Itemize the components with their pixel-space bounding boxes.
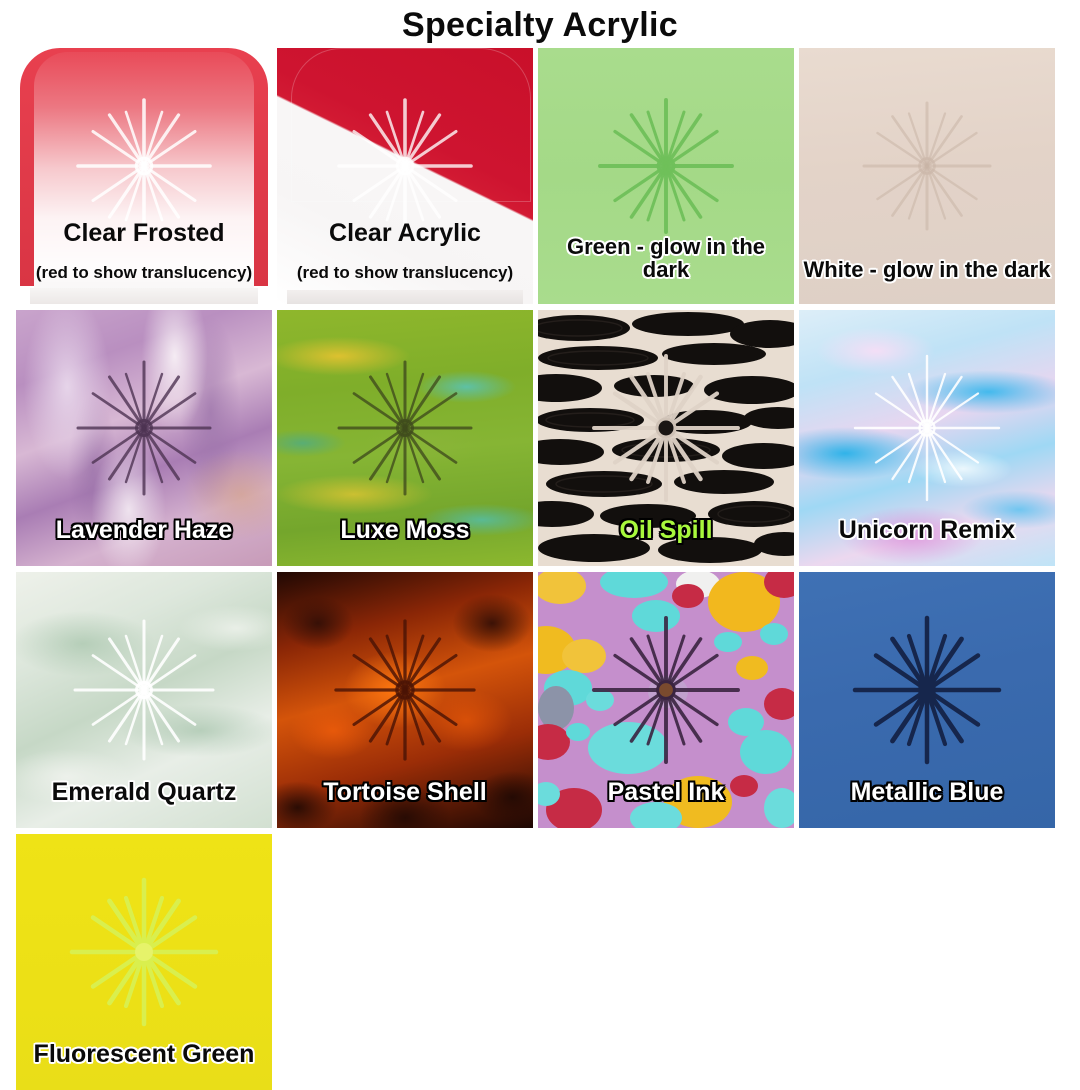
page-title: Specialty Acrylic bbox=[0, 0, 1080, 48]
swatch-name: Clear Frosted bbox=[20, 220, 268, 246]
swatch-name: Fluorescent Green bbox=[20, 1041, 268, 1067]
swatch-tile-clear-frosted[interactable]: Clear Frosted (red to show translucency) bbox=[16, 48, 272, 304]
swatch-tile-unicorn-remix[interactable]: Unicorn Remix bbox=[799, 310, 1055, 566]
swatch-tile-white-glow-in-the-dark[interactable]: White - glow in the dark bbox=[799, 48, 1055, 304]
swatch-name: White - glow in the dark bbox=[803, 259, 1051, 282]
starburst-icon bbox=[69, 353, 219, 503]
swatch-label: Clear Frosted (red to show translucency) bbox=[16, 203, 272, 298]
swatch-label: White - glow in the dark bbox=[799, 242, 1055, 298]
swatch-tile-pastel-ink[interactable]: Pastel Ink bbox=[538, 572, 794, 828]
swatch-name: Luxe Moss bbox=[281, 517, 529, 543]
swatch-surface: Clear Acrylic (red to show translucency) bbox=[277, 48, 533, 304]
swatch-surface: White - glow in the dark bbox=[799, 48, 1055, 304]
swatch-name: Oil Spill bbox=[542, 517, 790, 543]
starburst-icon bbox=[330, 353, 480, 503]
swatch-note: (red to show translucency) bbox=[20, 264, 268, 282]
swatch-surface: Emerald Quartz bbox=[16, 572, 272, 828]
swatch-label: Lavender Haze bbox=[16, 501, 272, 560]
swatch-surface: Fluorescent Green bbox=[16, 834, 272, 1090]
swatch-tile-clear-acrylic[interactable]: Clear Acrylic (red to show translucency) bbox=[277, 48, 533, 304]
swatch-label: Clear Acrylic (red to show translucency) bbox=[277, 203, 533, 298]
starburst-icon bbox=[852, 91, 1002, 241]
swatch-name: Tortoise Shell bbox=[281, 779, 529, 805]
swatch-surface: Tortoise Shell bbox=[277, 572, 533, 828]
swatch-tile-fluorescent-green[interactable]: Fluorescent Green bbox=[16, 834, 272, 1090]
swatch-label: Fluorescent Green bbox=[16, 1025, 272, 1084]
swatch-label: Oil Spill bbox=[538, 501, 794, 560]
swatch-label: Green - glow in the dark bbox=[538, 219, 794, 298]
starburst-icon bbox=[852, 615, 1002, 765]
swatch-tile-green-glow-in-the-dark[interactable]: Green - glow in the dark bbox=[538, 48, 794, 304]
swatch-grid: Clear Frosted (red to show translucency) bbox=[0, 48, 1080, 1090]
swatch-tile-lavender-haze[interactable]: Lavender Haze bbox=[16, 310, 272, 566]
swatch-label: Luxe Moss bbox=[277, 501, 533, 560]
starburst-icon bbox=[69, 877, 219, 1027]
starburst-icon bbox=[69, 615, 219, 765]
swatch-tile-oil-spill[interactable]: Oil Spill bbox=[538, 310, 794, 566]
swatch-tile-luxe-moss[interactable]: Luxe Moss bbox=[277, 310, 533, 566]
swatch-label: Tortoise Shell bbox=[277, 763, 533, 822]
swatch-name: Lavender Haze bbox=[20, 517, 268, 543]
swatch-surface: Pastel Ink bbox=[538, 572, 794, 828]
swatch-tile-tortoise-shell[interactable]: Tortoise Shell bbox=[277, 572, 533, 828]
starburst-icon bbox=[330, 615, 480, 765]
swatch-label: Emerald Quartz bbox=[16, 763, 272, 822]
swatch-tile-metallic-blue[interactable]: Metallic Blue bbox=[799, 572, 1055, 828]
swatch-label: Pastel Ink bbox=[538, 763, 794, 822]
swatch-name: Pastel Ink bbox=[542, 779, 790, 805]
swatch-surface: Clear Frosted (red to show translucency) bbox=[16, 48, 272, 304]
swatch-surface: Oil Spill bbox=[538, 310, 794, 566]
swatch-name: Metallic Blue bbox=[803, 779, 1051, 805]
swatch-tile-emerald-quartz[interactable]: Emerald Quartz bbox=[16, 572, 272, 828]
starburst-icon bbox=[852, 353, 1002, 503]
swatch-surface: Green - glow in the dark bbox=[538, 48, 794, 304]
swatch-label: Metallic Blue bbox=[799, 763, 1055, 822]
swatch-name: Clear Acrylic bbox=[281, 220, 529, 246]
swatch-name: Emerald Quartz bbox=[20, 779, 268, 805]
swatch-name: Green - glow in the dark bbox=[542, 236, 790, 282]
swatch-note: (red to show translucency) bbox=[281, 264, 529, 282]
clear-acrylic-panel bbox=[291, 48, 531, 202]
swatch-surface: Metallic Blue bbox=[799, 572, 1055, 828]
swatch-label: Unicorn Remix bbox=[799, 501, 1055, 560]
swatch-surface: Lavender Haze bbox=[16, 310, 272, 566]
swatch-surface: Unicorn Remix bbox=[799, 310, 1055, 566]
swatch-surface: Luxe Moss bbox=[277, 310, 533, 566]
swatch-name: Unicorn Remix bbox=[803, 517, 1051, 543]
